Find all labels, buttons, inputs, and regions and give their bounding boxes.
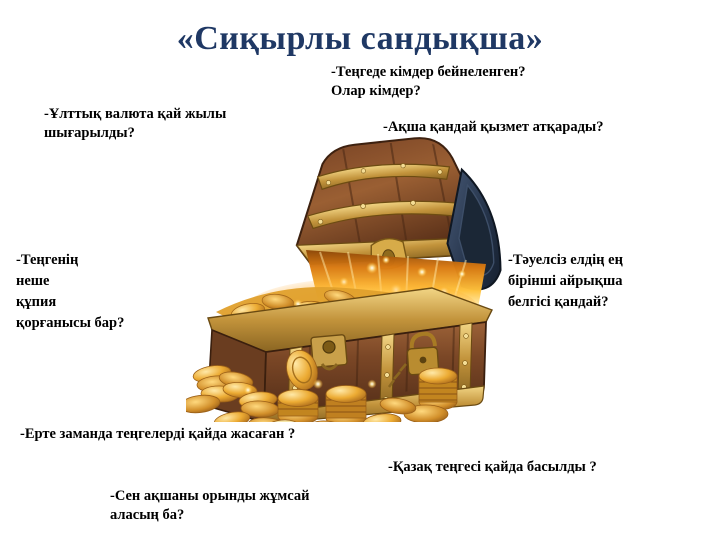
coin-stack-mid <box>278 390 318 423</box>
treasure-chest-image <box>186 132 506 422</box>
coin-stack-mid2 <box>326 386 366 423</box>
chest-lock <box>311 335 347 369</box>
question-tauelsiz-belgi: -Тәуелсіз елдің ең бірінші айрықша белгі… <box>508 250 713 313</box>
slide-canvas: «Сиқырлы сандықша» <box>0 0 720 540</box>
question-tenge-kimder: -Теңгеде кімдер бейнеленген? Олар кімдер… <box>331 63 661 101</box>
question-erte-zamanda: -Ерте заманда теңгелерді қайда жасаған ? <box>20 425 490 444</box>
question-sen-aqshany: -Сен ақшаны орынды жұмсай аласың ба? <box>110 487 440 525</box>
question-ulttyq-valuta: -Ұлттық валюта қай жылы шығарылды? <box>44 105 344 143</box>
question-tengenin-qupiya: -Теңгенің неше құпия қорғанысы бар? <box>16 250 196 334</box>
question-qazaq-tengesi: -Қазақ теңгесі қайда басылды ? <box>388 458 718 477</box>
page-title: «Сиқырлы сандықша» <box>0 19 720 59</box>
question-aqsha-qyzmet: -Ақша қандай қызмет атқарады? <box>383 118 718 137</box>
